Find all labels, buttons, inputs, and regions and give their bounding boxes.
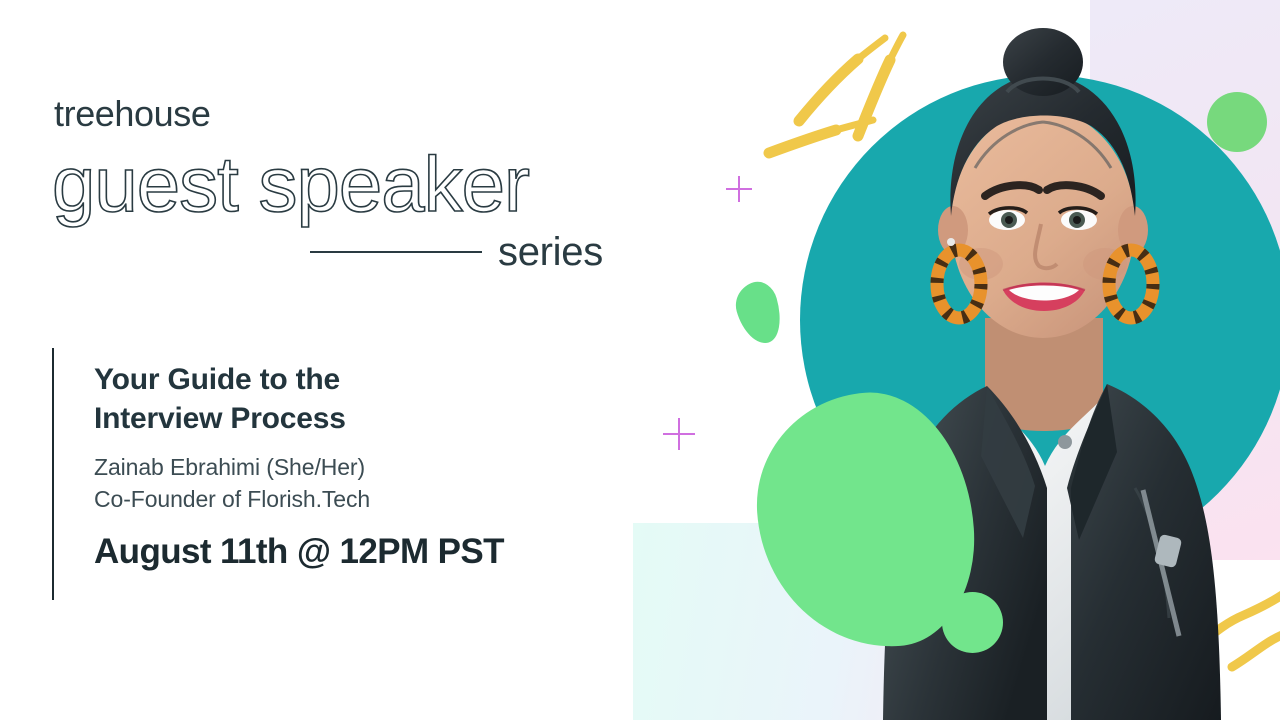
speaker-name: Zainab Ebrahimi (She/Her)	[94, 452, 504, 484]
series-label: series	[498, 232, 603, 272]
series-row: series	[310, 232, 672, 272]
talk-title: Your Guide to theInterview Process	[94, 360, 504, 438]
green-circle-bottom	[942, 592, 1003, 653]
event-datetime: August 11th @ 12PM PST	[94, 531, 504, 573]
green-blob-small	[730, 277, 787, 348]
series-divider-rule	[310, 251, 482, 253]
headline-guest-speaker: guest speaker	[52, 142, 672, 226]
promo-graphic: treehouse guest speaker series Your Guid…	[0, 0, 1280, 720]
event-details-block: Your Guide to theInterview Process Zaina…	[52, 348, 504, 600]
plus-mark-icon-lower	[663, 418, 695, 450]
speaker-role: Co-Founder of Florish.Tech	[94, 484, 504, 516]
treehouse-wordmark: treehouse	[54, 96, 672, 132]
plus-mark-icon-upper	[726, 176, 752, 202]
headline-block: treehouse guest speaker series	[52, 96, 672, 272]
